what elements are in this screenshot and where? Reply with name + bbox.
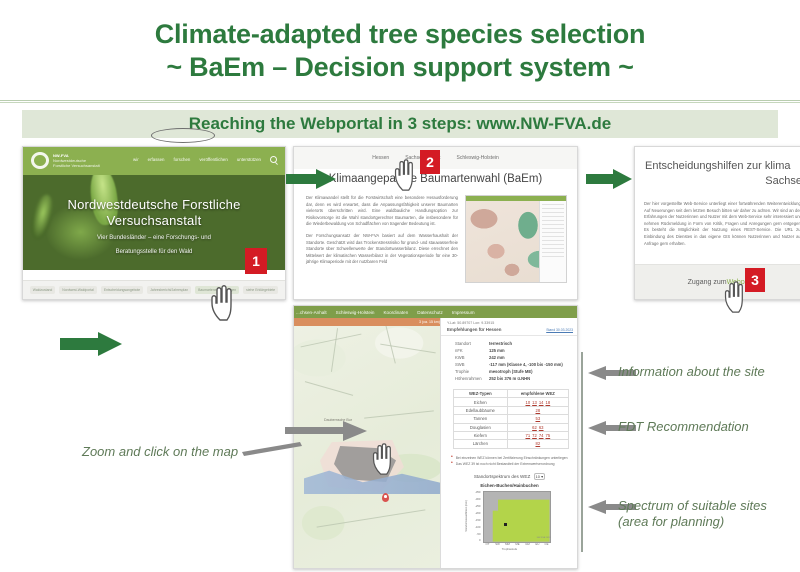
page-title: Climate-adapted tree species selection ~… xyxy=(0,0,800,101)
screenshot-panel-entscheidungshilfen: Entscheidungshilfen zur klima Sachse Der… xyxy=(634,146,800,300)
logo-sub2: Forstliche Versuchsanstalt xyxy=(53,163,100,168)
y-tick: -50 xyxy=(467,532,481,536)
grey-arrow-icon xyxy=(242,440,302,460)
baem-body: Der Klimawandel stellt für die Forstwirt… xyxy=(306,195,458,271)
fact-value: -117 mm (Klasse 4, -100 bis -150 mm) xyxy=(489,361,563,368)
wez-recommendation-table: WEZ-Typen empfohlene WEZ Eichen10131418 … xyxy=(453,389,569,449)
cell-type: Douglasien xyxy=(454,423,508,431)
col-header-wez-typen: WEZ-Typen xyxy=(454,390,508,398)
hero-heading-2: Versuchsanstalt xyxy=(23,213,285,229)
nav-item-forschen[interactable]: forschen xyxy=(174,157,191,162)
highlight-ellipse xyxy=(151,128,215,143)
nav-item-unterstuetzen[interactable]: unterstützen xyxy=(237,157,261,162)
cell-wez[interactable]: 10131418 xyxy=(507,398,568,406)
title-line-1: Climate-adapted tree species selection xyxy=(155,18,646,51)
portal-results-panel: Y-Lat: 50.89707 Lon: 9.33915 Empfehlunge… xyxy=(440,318,578,568)
table-row: Douglasien6263 xyxy=(454,423,569,431)
wez-code-link[interactable]: 82 xyxy=(536,441,541,446)
x-tick: MM xyxy=(505,542,510,546)
map-thumb-sidepanel xyxy=(539,201,566,282)
fact-row: Trophiemesotroph (Stufe ME) xyxy=(455,368,578,375)
callout-spectrum: Spectrum of suitable sites (area for pla… xyxy=(618,498,767,530)
site-main-nav[interactable]: wir erfassen forschen veröffentlichen un… xyxy=(133,156,277,163)
x-tick: SW xyxy=(495,542,500,546)
hand-pointer-icon xyxy=(208,284,242,324)
x-tick: ME xyxy=(515,542,519,546)
baem-heading: Klimaangepasste Baumartenwahl (BaEm) xyxy=(294,173,577,185)
title-divider xyxy=(0,100,800,103)
x-tick: OT xyxy=(486,542,490,546)
y-tick: -300 xyxy=(467,497,481,501)
nav-item-erfassen[interactable]: erfassen xyxy=(148,157,165,162)
portal-nav-koordinaten[interactable]: Koordinaten xyxy=(383,310,408,315)
wez-code-link[interactable]: 62 xyxy=(532,425,537,430)
x-tick: EU xyxy=(536,542,540,546)
spectrum-selected-value: 10 xyxy=(536,474,540,479)
step-badge-2: 2 xyxy=(420,150,440,174)
chart-title: Eichen-Buchen/Hainbuchen xyxy=(441,483,578,488)
bullet-icon: • xyxy=(451,461,453,467)
portal-nav-impressum[interactable]: Impressum xyxy=(452,310,475,315)
baem-paragraph-1: Der Klimawandel stellt für die Forstwirt… xyxy=(306,195,458,228)
quicklink-entscheidungsangebote[interactable]: Entscheidungsangebote xyxy=(101,286,143,294)
callout-fdt-recommendation: FDT Recommendation xyxy=(618,419,749,435)
footnotes: •Bei einzelnen WEZ können bei Zertifizie… xyxy=(451,455,578,467)
y-tick: -150 xyxy=(467,518,481,522)
nwfva-logo-inner xyxy=(34,155,46,166)
map-line xyxy=(305,381,353,396)
green-arrow-icon xyxy=(60,330,122,358)
map-pin-icon[interactable] xyxy=(382,493,389,502)
fact-key: SWB xyxy=(455,361,489,368)
chevron-down-icon: ▾ xyxy=(541,474,543,479)
fact-key: Trophie xyxy=(455,368,489,375)
wez-code-link[interactable]: 28 xyxy=(536,408,541,413)
cell-type: Tannen xyxy=(454,415,508,423)
interactive-map[interactable]: Daubernsche Bur xyxy=(294,318,440,568)
webportal-access-label: Zugang zum xyxy=(688,279,727,286)
wez-code-link[interactable]: 14 xyxy=(539,400,544,405)
nav-item-veroeffentlichen[interactable]: veröffentlichen xyxy=(199,157,227,162)
cell-type: Eichen xyxy=(454,398,508,406)
fact-value: 242 mm xyxy=(489,354,505,361)
cell-type: Kiefern xyxy=(454,431,508,439)
quicklink-erklaergebiete[interactable]: siehe Erklärgebiete xyxy=(243,286,278,294)
cell-type: Lärchen xyxy=(454,440,508,448)
green-arrow-icon xyxy=(586,168,632,190)
cell-wez[interactable]: 28 xyxy=(507,406,568,414)
cell-type: Edellaubbäume xyxy=(454,406,508,414)
wez-code-link[interactable]: 53 xyxy=(536,416,541,421)
site-facts-list: Standortterrestrisch nFK125 mm KWB242 mm… xyxy=(455,340,578,382)
fact-row: Standortterrestrisch xyxy=(455,340,578,347)
nav-item-schleswig-holstein[interactable]: Schleswig-Holstein xyxy=(457,155,499,161)
col-header-empfohlene-wez: empfohlene WEZ xyxy=(507,390,568,398)
wez-code-link[interactable]: 10 xyxy=(525,400,530,405)
fact-value: 125 mm xyxy=(489,347,505,354)
footnote-text: Das WEZ 39 ist noch nicht Bestandteil de… xyxy=(456,461,555,467)
wez-code-link[interactable]: 13 xyxy=(532,400,537,405)
hand-pointer-icon xyxy=(722,280,752,316)
site-data-point xyxy=(504,523,507,526)
sub-banner: Reaching the Webportal in 3 steps: www.N… xyxy=(22,110,778,138)
callout-zoom-click: Zoom and click on the map xyxy=(82,444,238,460)
fact-key: nFK xyxy=(455,347,489,354)
step-badge-1: 1 xyxy=(245,248,267,274)
table-row: Kiefern71727475 xyxy=(454,431,569,439)
wez-code-link[interactable]: 18 xyxy=(546,400,551,405)
nav-item-wir[interactable]: wir xyxy=(133,157,139,162)
quicklink-waldportal[interactable]: Nordwest-Waldportal xyxy=(59,286,97,294)
table-row: Eichen10131418 xyxy=(454,398,569,406)
suitable-area xyxy=(484,492,550,542)
nav-item-hessen[interactable]: Hessen xyxy=(372,155,389,161)
site-topbar: NW-FVA Nordwestdeutsche Forstliche Versu… xyxy=(23,147,285,175)
portal-nav-datenschutz[interactable]: Datenschutz xyxy=(417,310,443,315)
fact-row: KWB242 mm xyxy=(455,354,578,361)
fact-key: KWB xyxy=(455,354,489,361)
table-row: Tannen53 xyxy=(454,415,569,423)
spectrum-selector-row[interactable]: Standortspektrum des WEZ 10 ▾ xyxy=(441,473,578,480)
x-tick: CE xyxy=(545,542,549,546)
wez-code-link[interactable]: 75 xyxy=(546,433,551,438)
callout-site-info: Information about the site xyxy=(618,364,765,380)
portal-nav-sachsen-anhalt[interactable]: ...chsen-Anhalt xyxy=(296,310,327,315)
wez-code-link[interactable]: 71 xyxy=(525,433,530,438)
quicklink-waldzustand[interactable]: Waldzustand xyxy=(30,286,55,294)
fact-value: 252 bis 376 m ü.NHN xyxy=(489,375,530,382)
recommendation-header: Empfehlungen für Hessen xyxy=(447,327,501,332)
map-line xyxy=(301,334,362,348)
table-row: Edellaubbäume28 xyxy=(454,406,569,414)
sub-banner-text: Reaching the Webportal in 3 steps: www.N… xyxy=(189,114,612,134)
map-line xyxy=(364,410,434,418)
callout-spectrum-line-2: (area for planning) xyxy=(618,514,767,530)
callout-vertical-rule xyxy=(581,352,583,552)
fact-value: mesotroph (Stufe ME) xyxy=(489,368,533,375)
fact-value: terrestrisch xyxy=(489,340,512,347)
fact-key: Höhenrahmen xyxy=(455,375,489,382)
y-tick: -350 xyxy=(467,490,481,494)
map-line xyxy=(331,328,338,372)
y-tick: -200 xyxy=(467,511,481,515)
callout-spectrum-line-1: Spectrum of suitable sites xyxy=(618,498,767,514)
recommendation-header-row: Empfehlungen für Hessen Stand 30.03.2023 xyxy=(441,327,578,336)
wez-code-link[interactable]: 72 xyxy=(532,433,537,438)
baem-paragraph-2: Der Forschungsansatz der NW-FVA basiert … xyxy=(306,233,458,266)
grey-arrow-icon xyxy=(285,418,367,442)
spectrum-select[interactable]: 10 ▾ xyxy=(534,473,546,480)
y-tick: -100 xyxy=(467,525,481,529)
cell-wez[interactable]: 53 xyxy=(507,415,568,423)
chart-credit: NW-FVA 2023 xyxy=(537,537,551,539)
x-tick: GM xyxy=(525,542,530,546)
fact-row: SWB-117 mm (Klasse 4, -100 bis -150 mm) xyxy=(455,361,578,368)
baem-map-thumbnail xyxy=(465,195,567,283)
webportal-access-bar[interactable]: Zugang zum Webportal xyxy=(635,264,800,299)
entscheidungshilfen-paragraph: Der hier vorgestellte Web-Service unterl… xyxy=(644,201,800,247)
search-icon[interactable] xyxy=(270,156,277,163)
hero-sub-1: Vier Bundesländer – eine Forschungs- und xyxy=(23,234,285,243)
heading-line-2: Sachse xyxy=(645,174,800,189)
fact-row: Höhenrahmen252 bis 376 m ü.NHN xyxy=(455,375,578,382)
table-row: Lärchen82 xyxy=(454,440,569,448)
hand-pointer-icon xyxy=(370,442,400,478)
entscheidungshilfen-heading: Entscheidungshilfen zur klima Sachse xyxy=(645,159,800,189)
title-line-2: ~ BaEm – Decision support system ~ xyxy=(166,51,633,84)
y-tick: 0 xyxy=(467,538,481,542)
green-arrow-icon xyxy=(286,168,336,190)
standortspektrum-chart: Standortwasserbilanz (mm) -350 -300 -250… xyxy=(467,491,553,551)
spectrum-label: Standortspektrum des WEZ xyxy=(474,474,530,479)
portal-nav-schleswig-holstein[interactable]: Schleswig-Holstein xyxy=(336,310,375,315)
y-tick: -250 xyxy=(467,504,481,508)
chart-xlabel: Trophiestufe xyxy=(467,547,553,551)
map-scale-label: 3 (ca. 15 km) xyxy=(419,320,440,324)
portal-nav[interactable]: ...chsen-Anhalt Schleswig-Holstein Koord… xyxy=(294,306,578,318)
chart-plot-area xyxy=(483,491,551,543)
heading-line-1: Entscheidungshilfen zur klima xyxy=(645,160,791,172)
coordinates-readout: Y-Lat: 50.89707 Lon: 9.33915 xyxy=(441,318,578,327)
screenshot-panel-homepage: NW-FVA Nordwestdeutsche Forstliche Versu… xyxy=(22,146,286,300)
logo-text: NW-FVA Nordwestdeutsche Forstliche Versu… xyxy=(53,153,100,168)
cell-wez[interactable]: 82 xyxy=(507,440,568,448)
fact-key: Standort xyxy=(455,340,489,347)
hero-heading-1: Nordwestdeutsche Forstliche xyxy=(23,197,285,213)
footnote-item: •Das WEZ 39 ist noch nicht Bestandteil d… xyxy=(451,461,578,467)
cell-wez[interactable]: 71727475 xyxy=(507,431,568,439)
hand-pointer-icon xyxy=(392,158,422,194)
wez-code-link[interactable]: 63 xyxy=(539,425,544,430)
quicklink-jahresbericht[interactable]: Jahresbericht/Jahresplan xyxy=(147,286,191,294)
map-line xyxy=(317,509,426,527)
map-line xyxy=(380,344,435,354)
quicklink-bar: Waldzustand Nordwest-Waldportal Entschei… xyxy=(23,280,285,299)
wez-code-link[interactable]: 74 xyxy=(539,433,544,438)
stand-link[interactable]: Stand 30.03.2023 xyxy=(546,328,573,332)
map-scale-bar: 3 (ca. 15 km) xyxy=(294,318,443,326)
cell-wez[interactable]: 6263 xyxy=(507,423,568,431)
table-header-row: WEZ-Typen empfohlene WEZ xyxy=(454,390,569,398)
fact-row: nFK125 mm xyxy=(455,347,578,354)
